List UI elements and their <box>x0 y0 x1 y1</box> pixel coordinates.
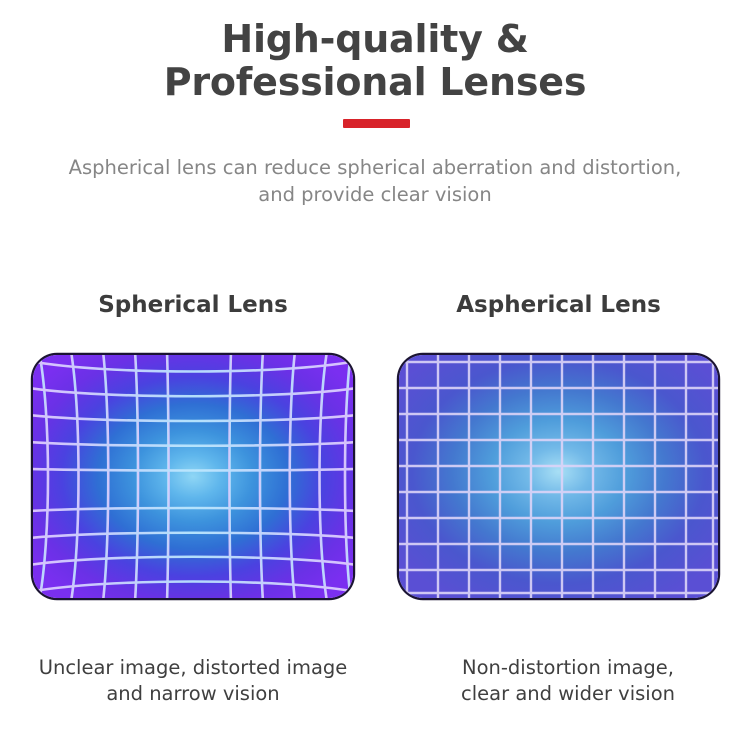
spherical-lens-heading: Spherical Lens <box>33 292 353 318</box>
aspherical-lens-heading: Aspherical Lens <box>399 292 718 318</box>
spherical-lens-panel <box>33 355 353 598</box>
page-title-line-2: Professional Lenses <box>0 61 750 104</box>
spherical-lens-grid-image <box>33 355 353 598</box>
aspherical-lens-caption: Non-distortion image, clear and wider vi… <box>386 655 750 707</box>
page-title-line-1: High-quality & <box>0 18 750 61</box>
spherical-lens-caption-line-1: Unclear image, distorted image <box>0 655 386 681</box>
page-title: High-quality & Professional Lenses <box>0 18 750 103</box>
page-subtitle: Aspherical lens can reduce spherical abe… <box>0 155 750 209</box>
page-subtitle-line-2: and provide clear vision <box>0 182 750 209</box>
page-subtitle-line-1: Aspherical lens can reduce spherical abe… <box>0 155 750 182</box>
spherical-lens-caption: Unclear image, distorted image and narro… <box>0 655 386 707</box>
title-accent-bar <box>343 119 410 128</box>
aspherical-lens-caption-line-2: clear and wider vision <box>386 681 750 707</box>
spherical-lens-caption-line-2: and narrow vision <box>0 681 386 707</box>
aspherical-lens-panel <box>399 355 718 598</box>
lens-comparison-page: High-quality & Professional Lenses Asphe… <box>0 0 750 750</box>
aspherical-lens-caption-line-1: Non-distortion image, <box>386 655 750 681</box>
aspherical-lens-grid-image <box>399 355 718 598</box>
